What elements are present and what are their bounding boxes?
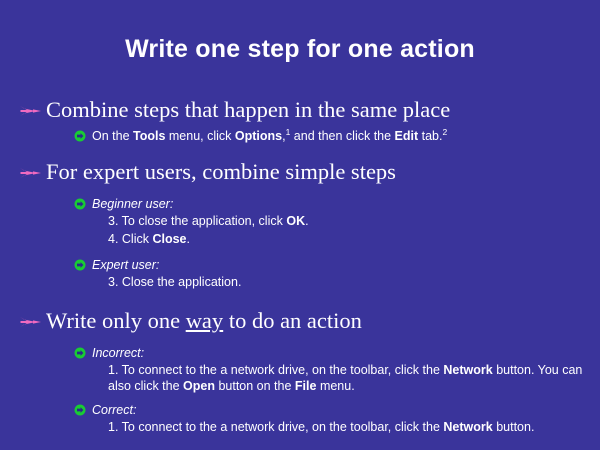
sub-bullet-label: Beginner user:	[92, 197, 173, 211]
step-text-p1: 1. To connect to the a network drive, on…	[108, 420, 443, 434]
bullet-level1-one-way: Write only one way to do an action	[0, 307, 600, 335]
bullet-level1-label-underlined: way	[186, 308, 224, 333]
step-bold-network: Network	[443, 420, 492, 434]
sub-bullet-text-prefix: On the	[92, 129, 133, 143]
bullet-level2-beginner-user: Beginner user:	[0, 196, 600, 212]
step-text-p2: button.	[493, 420, 535, 434]
bullet-level1-label: Combine steps that happen in the same pl…	[46, 97, 450, 122]
bullet-level2-expert-user: Expert user:	[0, 257, 600, 273]
sub-bullet-text-mid3: and then click the	[290, 129, 394, 143]
numbered-step-beginner-3: 3. To close the application, click OK.	[0, 213, 600, 230]
pink-arrow-bullet-icon	[20, 167, 42, 179]
footnote-ref-2: 2	[442, 127, 447, 137]
bullet-level2-correct: Correct:	[0, 402, 600, 418]
sub-bullet-label: Correct:	[92, 403, 136, 417]
bullet-level1-label-part1: Write only one	[46, 308, 186, 333]
bullet-level1-combine-steps: Combine steps that happen in the same pl…	[0, 96, 600, 124]
sub-bullet-bold-options: Options	[235, 129, 282, 143]
step-bold-ok: OK	[286, 214, 305, 228]
bullet-level1-label-part2: to do an action	[223, 308, 362, 333]
green-circle-arrow-bullet-icon	[74, 198, 86, 210]
sub-bullet-label: Incorrect:	[92, 346, 144, 360]
slide: Write one step for one action Combine st…	[0, 0, 600, 450]
sub-bullet-bold-edit: Edit	[395, 129, 419, 143]
green-circle-arrow-bullet-icon	[74, 404, 86, 416]
numbered-step-beginner-4: 4. Click Close.	[0, 231, 600, 248]
step-bold-file: File	[295, 379, 317, 393]
bullet-level2-incorrect: Incorrect:	[0, 345, 600, 361]
bullet-level2-tools-options: On the Tools menu, click Options,1 and t…	[0, 128, 600, 144]
step-text-after: .	[187, 232, 190, 246]
step-text-p3: button on the	[215, 379, 295, 393]
numbered-step-expert-3: 3. Close the application.	[0, 274, 600, 291]
step-text-before: 4. Click	[108, 232, 152, 246]
green-circle-arrow-bullet-icon	[74, 259, 86, 271]
step-text-p1: 1. To connect to the a network drive, on…	[108, 363, 443, 377]
numbered-step-incorrect-1: 1. To connect to the a network drive, on…	[0, 362, 600, 395]
numbered-step-correct-1: 1. To connect to the a network drive, on…	[0, 419, 600, 436]
step-text-before: 3. Close the application.	[108, 275, 241, 289]
step-text-after: .	[305, 214, 308, 228]
green-circle-arrow-bullet-icon	[74, 347, 86, 359]
sub-bullet-text-mid1: menu, click	[165, 129, 234, 143]
step-text-p4: menu.	[316, 379, 354, 393]
pink-arrow-bullet-icon	[20, 316, 42, 328]
sub-bullet-bold-tools: Tools	[133, 129, 165, 143]
pink-arrow-bullet-icon	[20, 105, 42, 117]
bullet-level1-expert-users: For expert users, combine simple steps	[0, 158, 600, 186]
page-title: Write one step for one action	[0, 34, 600, 64]
step-bold-network: Network	[443, 363, 492, 377]
sub-bullet-label: Expert user:	[92, 258, 159, 272]
sub-bullet-text-mid4: tab.	[418, 129, 442, 143]
bullet-level1-label: For expert users, combine simple steps	[46, 159, 396, 184]
green-circle-arrow-bullet-icon	[74, 130, 86, 142]
step-bold-open: Open	[183, 379, 215, 393]
slide-body: Combine steps that happen in the same pl…	[0, 96, 600, 435]
step-bold-close: Close	[152, 232, 186, 246]
step-text-before: 3. To close the application, click	[108, 214, 286, 228]
